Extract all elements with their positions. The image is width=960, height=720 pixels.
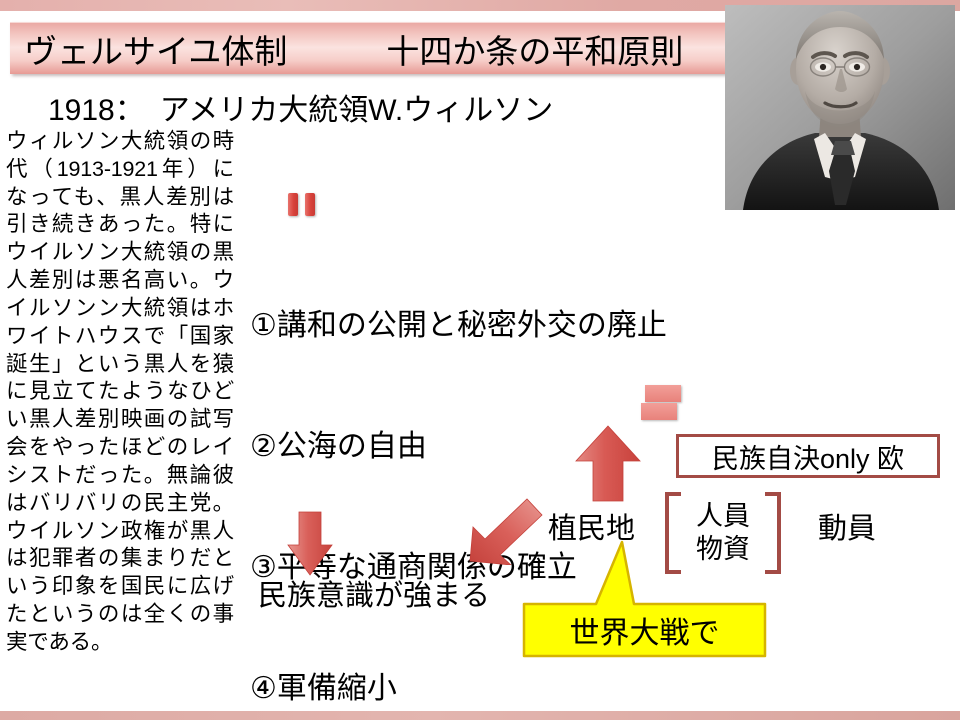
bracket-line-1: 人員: [696, 500, 750, 533]
box-minzoku-jiketsu-label: 民族自決only 欧: [712, 437, 904, 476]
list-item: ①講和の公開と秘密外交の廃止: [250, 306, 667, 346]
highlight-block-lower: [641, 403, 677, 420]
list-item: ④軍備縮小: [250, 669, 667, 709]
page-title: ヴェルサイユ体制 十四か条の平和原則: [24, 25, 683, 73]
slide-canvas: ヴェルサイユ体制 十四か条の平和原則 1918： アメリカ大統領W.ウィルソン …: [0, 0, 960, 720]
subtitle-year-line: 1918： アメリカ大統領W.ウィルソン: [48, 85, 553, 129]
quote-mark-icon: [288, 193, 316, 216]
label-douin: 動員: [818, 505, 876, 547]
title-bar: ヴェルサイユ体制 十四か条の平和原則: [10, 22, 736, 74]
arrow-up-icon: [572, 423, 644, 503]
box-minzoku-jiketsu: 民族自決only 欧: [676, 434, 940, 478]
callout-sekai-taisen: 世界大戦で: [500, 530, 790, 660]
arrow-down-icon: [285, 509, 335, 577]
highlight-block-upper: [645, 385, 681, 402]
callout-label: 世界大戦で: [524, 604, 765, 656]
portrait-photo: [725, 5, 955, 210]
label-minzoku-ishiki: 民族意識が強まる: [258, 572, 490, 614]
left-body-text: ウィルソン大統領の時代（1913-1921年）になっても、黒人差別は引き続きあっ…: [6, 128, 234, 657]
